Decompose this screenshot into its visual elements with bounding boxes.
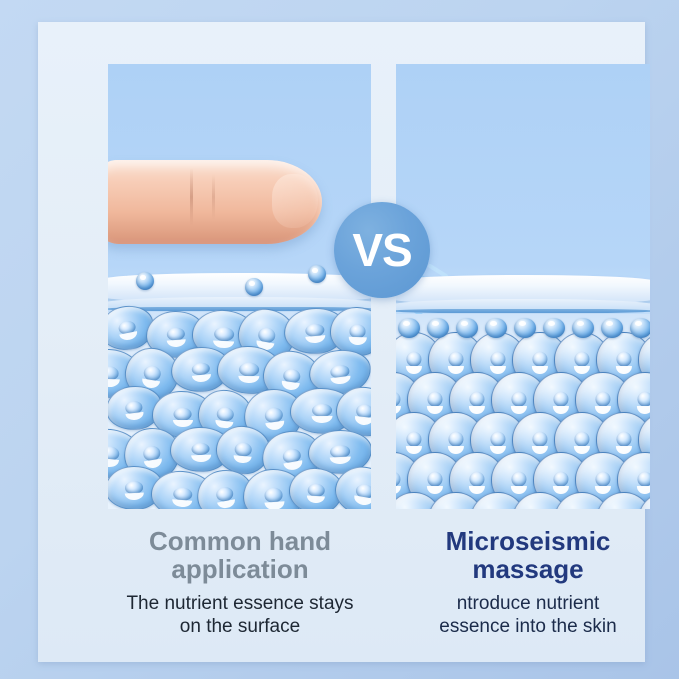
- cell-highlight: [172, 420, 192, 427]
- cell-nucleus: [616, 352, 631, 367]
- cell-highlight: [427, 486, 443, 494]
- essence-droplet-icon: [572, 318, 594, 338]
- cell-nucleus: [511, 392, 526, 407]
- cell-highlight: [108, 458, 119, 468]
- cell-highlight: [126, 412, 145, 421]
- caption-left-title-line2: application: [171, 554, 308, 584]
- cell-highlight: [191, 454, 211, 462]
- cell-highlight: [312, 416, 333, 423]
- caption-left-title-line1: Common hand: [149, 526, 331, 556]
- caption-right-subtitle-line2: essence into the skin: [439, 616, 616, 637]
- essence-droplet-icon: [543, 318, 565, 338]
- panel-microseismic-massage: [396, 64, 650, 509]
- cell-highlight: [348, 337, 366, 345]
- essence-droplet-icon: [514, 318, 536, 338]
- cell-highlight: [511, 406, 527, 414]
- cell-highlight: [469, 486, 485, 494]
- cell-highlight: [616, 366, 632, 374]
- surface-boundary-line: [396, 309, 650, 313]
- essence-droplet-icon: [308, 265, 326, 283]
- cell-nucleus: [553, 392, 568, 407]
- finger-crease-secondary: [212, 174, 215, 220]
- essence-droplet-icon: [630, 318, 650, 338]
- cell-nucleus: [448, 432, 463, 447]
- essence-droplet-icon: [136, 272, 154, 290]
- infographic-card: VS Common hand application The nutrient …: [38, 22, 645, 662]
- cell-highlight: [511, 486, 527, 494]
- cell-highlight: [595, 406, 611, 414]
- cell-highlight: [213, 340, 234, 349]
- cell-nucleus: [406, 352, 421, 367]
- essence-droplet-icon: [398, 318, 420, 338]
- cell-highlight: [171, 499, 192, 508]
- cell-highlight: [406, 446, 422, 454]
- cell-highlight: [238, 375, 259, 383]
- essence-droplet-icon: [427, 318, 449, 338]
- cell-highlight: [532, 366, 548, 374]
- caption-left-subtitle-line2: on the surface: [180, 616, 300, 637]
- caption-right-title-line2: massage: [472, 554, 583, 584]
- cell-nucleus: [574, 432, 589, 447]
- cell-highlight: [469, 406, 485, 414]
- cell-highlight: [396, 406, 401, 414]
- cell-highlight: [553, 486, 569, 494]
- cell-highlight: [427, 406, 443, 414]
- caption-right-title: Microseismic massage: [388, 527, 668, 583]
- caption-left: Common hand application The nutrient ess…: [100, 527, 380, 639]
- cell-nucleus: [108, 366, 119, 381]
- cell-highlight: [448, 446, 464, 454]
- cell-highlight: [406, 366, 422, 374]
- cell-nucleus: [574, 352, 589, 367]
- cell-highlight: [553, 406, 569, 414]
- caption-right-subtitle-line1: ntroduce nutrient: [457, 593, 600, 614]
- cell-nucleus: [396, 472, 401, 487]
- cell-nucleus: [595, 472, 610, 487]
- cell-highlight: [574, 366, 590, 374]
- finger-crease: [190, 168, 193, 226]
- finger-icon: [108, 160, 322, 244]
- cell-highlight: [616, 446, 632, 454]
- caption-right-title-line1: Microseismic: [446, 526, 611, 556]
- essence-droplet-icon: [485, 318, 507, 338]
- cell-nucleus: [511, 472, 526, 487]
- cell-nucleus: [427, 392, 442, 407]
- cell-highlight: [191, 374, 211, 383]
- cell-highlight: [233, 455, 251, 464]
- cell-highlight: [354, 416, 371, 425]
- cell-highlight: [307, 496, 325, 504]
- cell-highlight: [595, 486, 611, 494]
- versus-badge-icon: VS: [334, 202, 430, 298]
- cell-highlight: [265, 420, 285, 431]
- cell-highlight: [166, 339, 186, 348]
- cell-highlight: [490, 366, 506, 374]
- cell-nucleus: [469, 392, 484, 407]
- panel-common-hand-application: [108, 64, 371, 509]
- fingertip-highlight: [272, 174, 318, 228]
- cell-highlight: [396, 486, 401, 494]
- cell-nucleus: [469, 472, 484, 487]
- essence-droplet-icon: [601, 318, 623, 338]
- caption-right: Microseismic massage ntroduce nutrient e…: [388, 527, 668, 639]
- essence-droplet-icon: [245, 278, 263, 296]
- caption-right-subtitle: ntroduce nutrient essence into the skin: [388, 593, 668, 639]
- cell-nucleus: [396, 392, 401, 407]
- cell-highlight: [574, 446, 590, 454]
- versus-badge-label: VS: [352, 227, 411, 273]
- caption-left-title: Common hand application: [100, 527, 380, 583]
- cell-nucleus: [448, 352, 463, 367]
- cell-highlight: [305, 335, 326, 344]
- cell-highlight: [330, 456, 351, 464]
- cell-nucleus: [490, 432, 505, 447]
- cell-highlight: [532, 446, 548, 454]
- cell-nucleus: [595, 392, 610, 407]
- dermis-right: [396, 314, 650, 509]
- cell-nucleus: [532, 352, 547, 367]
- cell-highlight: [125, 493, 144, 501]
- cell-nucleus: [616, 432, 631, 447]
- cell-highlight: [637, 486, 650, 494]
- cell-highlight: [637, 406, 650, 414]
- cell-nucleus: [490, 352, 505, 367]
- cell-nucleus: [553, 472, 568, 487]
- cell-highlight: [330, 376, 351, 385]
- cell-highlight: [264, 501, 285, 509]
- cell-nucleus: [427, 472, 442, 487]
- cell-nucleus: [406, 432, 421, 447]
- skin-surface-icon-right: [396, 269, 650, 315]
- cell-nucleus: [637, 472, 650, 487]
- cell-nucleus: [173, 407, 192, 421]
- cell-highlight: [490, 446, 506, 454]
- dermis-left: [108, 312, 371, 509]
- cell-highlight: [448, 366, 464, 374]
- cell-nucleus: [239, 362, 259, 376]
- essence-droplet-icon: [456, 318, 478, 338]
- infographic-stage: VS Common hand application The nutrient …: [0, 0, 679, 679]
- cell-nucleus: [637, 392, 650, 407]
- caption-left-subtitle-line1: The nutrient essence stays: [126, 593, 353, 614]
- cell-nucleus: [532, 432, 547, 447]
- caption-left-subtitle: The nutrient essence stays on the surfac…: [100, 593, 380, 639]
- cell-highlight: [108, 379, 119, 387]
- cell-highlight: [353, 495, 371, 506]
